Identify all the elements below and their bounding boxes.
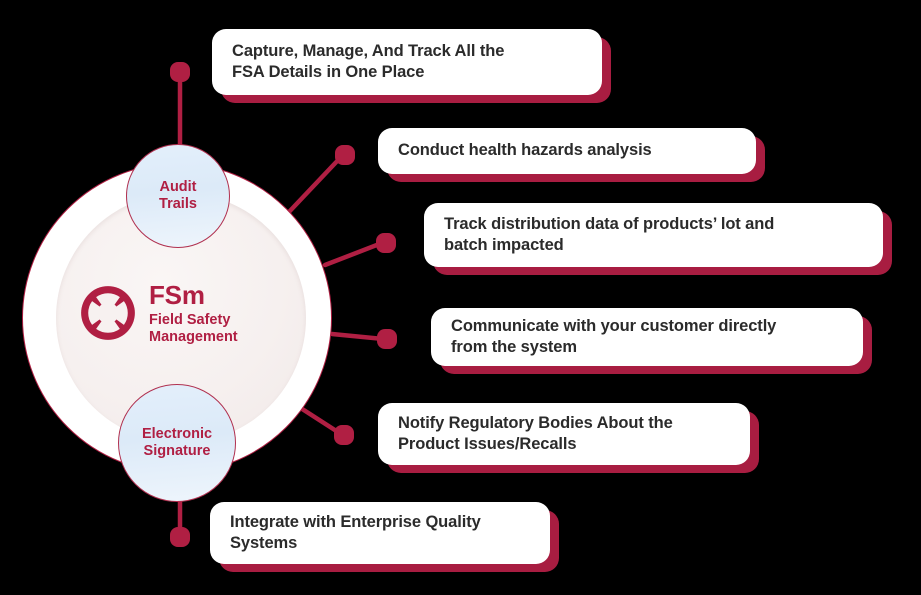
feature-card-4-text: Communicate with your customer directly … [431, 316, 792, 359]
feature-card-2-line-1: Conduct health hazards analysis [398, 140, 652, 161]
feature-card-6-text: Integrate with Enterprise Quality System… [210, 512, 497, 555]
bubble-electronic-signature-line-1: Electronic [142, 426, 212, 443]
feature-card-1-line-1: Capture, Manage, And Track All the [232, 41, 504, 62]
feature-card-5-line-2: Product Issues/Recalls [398, 434, 673, 455]
brand-text-block: FSm Field Safety Management [149, 281, 238, 346]
feature-card-5-face: Notify Regulatory Bodies About the Produ… [378, 403, 750, 465]
feature-card-3-line-1: Track distribution data of products’ lot… [444, 214, 774, 235]
connector-line-5 [296, 405, 341, 434]
connector-dot-6 [170, 527, 190, 547]
brand-subtitle-line-1: Field Safety [149, 312, 238, 329]
connector-dot-1 [170, 62, 190, 82]
connector-dot-4 [377, 329, 397, 349]
feature-card-6-face: Integrate with Enterprise Quality System… [210, 502, 550, 564]
feature-card-3-face: Track distribution data of products’ lot… [424, 203, 883, 267]
feature-card-5-text: Notify Regulatory Bodies About the Produ… [378, 413, 689, 456]
bubble-audit-trails-line-1: Audit [159, 179, 197, 196]
bubble-audit-trails[interactable]: Audit Trails [126, 144, 230, 248]
feature-card-1[interactable]: Capture, Manage, And Track All the FSA D… [212, 29, 602, 95]
feature-card-2-face: Conduct health hazards analysis [378, 128, 756, 174]
bubble-electronic-signature-label: Electronic Signature [142, 426, 212, 460]
bubble-audit-trails-line-2: Trails [159, 196, 197, 213]
bubble-electronic-signature-line-2: Signature [142, 443, 212, 460]
brand-subtitle: Field Safety Management [149, 312, 238, 346]
feature-card-3[interactable]: Track distribution data of products’ lot… [424, 203, 883, 267]
feature-card-4-face: Communicate with your customer directly … [431, 308, 863, 366]
feature-card-5-line-1: Notify Regulatory Bodies About the [398, 413, 673, 434]
diagram-canvas: FSm Field Safety Management Audit Trails… [0, 0, 921, 595]
connector-line-3 [325, 243, 382, 265]
feature-card-3-text: Track distribution data of products’ lot… [424, 214, 790, 257]
feature-card-4[interactable]: Communicate with your customer directly … [431, 308, 863, 366]
feature-card-6[interactable]: Integrate with Enterprise Quality System… [210, 502, 550, 564]
feature-card-2[interactable]: Conduct health hazards analysis [378, 128, 756, 174]
connector-line-4 [332, 334, 383, 339]
connector-dot-2 [335, 145, 355, 165]
feature-card-1-face: Capture, Manage, And Track All the FSA D… [212, 29, 602, 95]
brand-title: FSm [149, 281, 238, 309]
feature-card-5[interactable]: Notify Regulatory Bodies About the Produ… [378, 403, 750, 465]
feature-card-6-line-1: Integrate with Enterprise Quality [230, 512, 481, 533]
feature-card-3-line-2: batch impacted [444, 235, 774, 256]
hub-brand: FSm Field Safety Management [80, 272, 295, 354]
feature-card-6-line-2: Systems [230, 533, 481, 554]
life-ring-icon [80, 285, 136, 341]
bubble-audit-trails-label: Audit Trails [159, 179, 197, 213]
feature-card-2-text: Conduct health hazards analysis [378, 140, 668, 161]
feature-card-4-line-2: from the system [451, 337, 776, 358]
brand-subtitle-line-2: Management [149, 329, 238, 346]
feature-card-4-line-1: Communicate with your customer directly [451, 316, 776, 337]
feature-card-1-text: Capture, Manage, And Track All the FSA D… [212, 41, 520, 84]
feature-card-1-line-2: FSA Details in One Place [232, 62, 504, 83]
connector-line-2 [288, 157, 341, 213]
bubble-electronic-signature[interactable]: Electronic Signature [118, 384, 236, 502]
connector-dot-5 [334, 425, 354, 445]
connector-dot-3 [376, 233, 396, 253]
